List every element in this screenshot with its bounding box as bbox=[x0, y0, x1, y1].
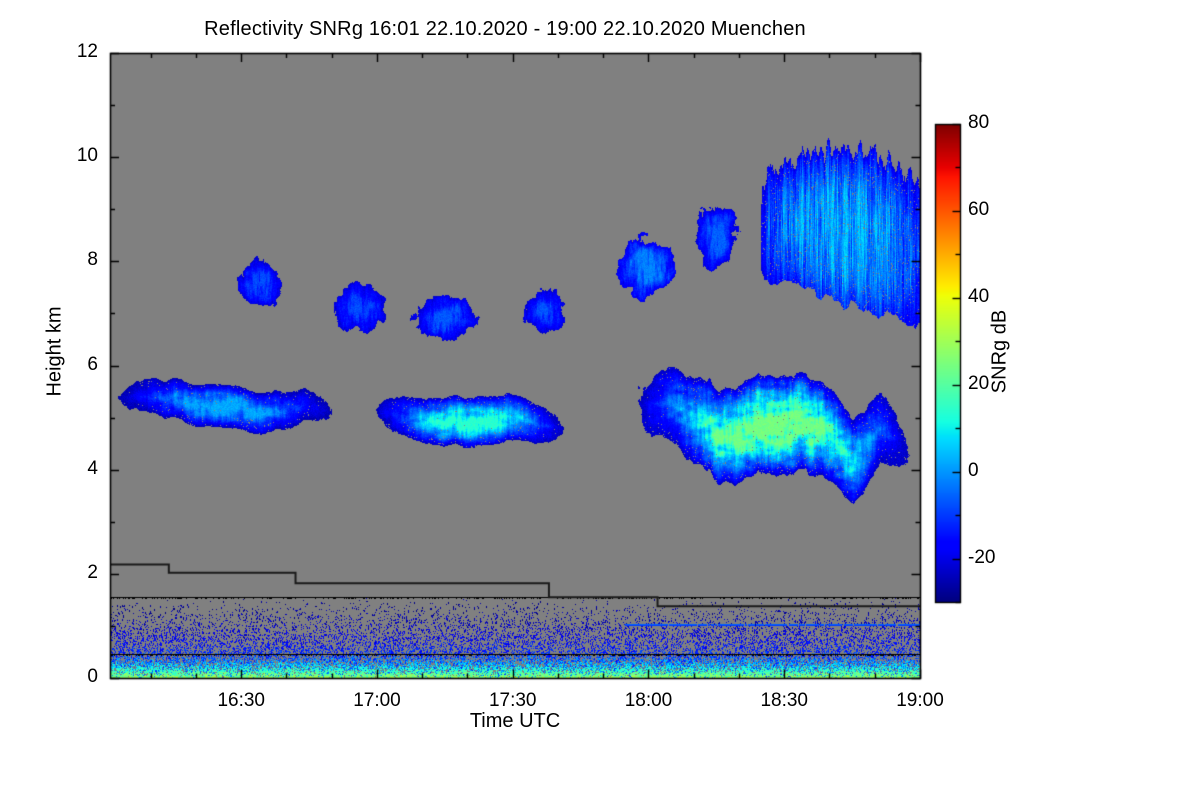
x-axis-tick-label: 17:00 bbox=[317, 690, 437, 712]
y-axis-tick-label: 6 bbox=[28, 354, 98, 376]
colorbar-tick-label: 80 bbox=[968, 112, 1028, 134]
colorbar-tick-label: 20 bbox=[968, 373, 1028, 395]
radar-reflectivity-figure: Reflectivity SNRg 16:01 22.10.2020 - 19:… bbox=[0, 0, 1200, 800]
x-axis-tick-label: 19:00 bbox=[860, 690, 980, 712]
colorbar-tick-label: 40 bbox=[968, 286, 1028, 308]
y-axis-tick-label: 10 bbox=[28, 145, 98, 167]
colorbar-tick-label: -20 bbox=[968, 547, 1028, 569]
y-axis-tick-label: 2 bbox=[28, 562, 98, 584]
x-axis-tick-label: 17:30 bbox=[453, 690, 573, 712]
y-axis-tick-label: 0 bbox=[28, 666, 98, 688]
x-axis-tick-label: 18:30 bbox=[724, 690, 844, 712]
colorbar-label: SNRg dB bbox=[989, 252, 1012, 452]
y-axis-tick-label: 8 bbox=[28, 249, 98, 271]
x-axis-tick-label: 16:30 bbox=[181, 690, 301, 712]
y-axis-tick-label: 4 bbox=[28, 458, 98, 480]
y-axis-tick-label: 12 bbox=[28, 41, 98, 63]
y-axis-label: Height km bbox=[44, 252, 67, 452]
colorbar-tick-label: 0 bbox=[968, 460, 1028, 482]
x-axis-label: Time UTC bbox=[110, 710, 920, 733]
x-axis-tick-label: 18:00 bbox=[588, 690, 708, 712]
colorbar-tick-label: 60 bbox=[968, 199, 1028, 221]
page-title: Reflectivity SNRg 16:01 22.10.2020 - 19:… bbox=[0, 18, 1010, 41]
